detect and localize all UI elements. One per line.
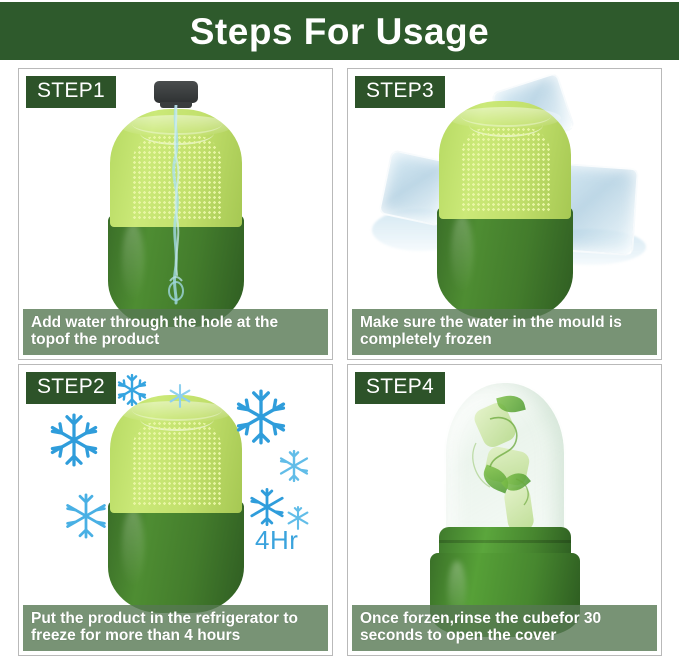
infographic-page: Steps For Usage <box>0 0 679 665</box>
water-stream-icon <box>163 105 189 305</box>
step-caption-4: Once forzen,rinse the cubefor 30 seconds… <box>352 605 657 651</box>
step-caption-3: Make sure the water in the mould is comp… <box>352 309 657 355</box>
time-label: 4Hr <box>255 525 298 556</box>
snowflake-icon <box>277 449 311 483</box>
snowflake-icon <box>115 373 149 407</box>
product-bumps-texture <box>461 127 551 213</box>
step-badge-2: STEP2 <box>26 372 116 404</box>
step-badge-4: STEP4 <box>355 372 445 404</box>
product-bumps-texture <box>132 421 222 507</box>
product-base <box>437 207 573 319</box>
snowflake-icon <box>247 487 287 527</box>
product-base <box>108 501 244 613</box>
step-panel-4[interactable]: STEP4 Once forzen,rinse the cubefor 30 s… <box>347 364 662 656</box>
snowflake-icon <box>233 389 289 445</box>
product-silicone-top <box>439 101 571 219</box>
page-title: Steps For Usage <box>190 13 489 50</box>
product-icon <box>108 395 244 613</box>
ice-dome-icon <box>444 381 566 545</box>
cap-icon <box>154 81 198 103</box>
step-panel-1[interactable]: STEP1 Add water through the hole at the … <box>18 68 333 360</box>
step-panel-2[interactable]: 4Hr STEP2 Put the product in the refrige… <box>18 364 333 656</box>
stem-icon <box>446 383 564 543</box>
header-bar: Steps For Usage <box>0 2 679 60</box>
snowflake-icon <box>167 383 193 409</box>
snowflake-icon <box>63 493 109 539</box>
step-badge-3: STEP3 <box>355 76 445 108</box>
step-panel-3[interactable]: STEP3 Make sure the water in the mould i… <box>347 68 662 360</box>
step-caption-2: Put the product in the refrigerator to f… <box>23 605 328 651</box>
steps-grid: STEP1 Add water through the hole at the … <box>18 68 662 656</box>
snowflake-icon <box>47 413 101 467</box>
product-silicone-top <box>110 395 242 513</box>
product-icon <box>437 101 573 319</box>
step-caption-1: Add water through the hole at the topof … <box>23 309 328 355</box>
step-badge-1: STEP1 <box>26 76 116 108</box>
